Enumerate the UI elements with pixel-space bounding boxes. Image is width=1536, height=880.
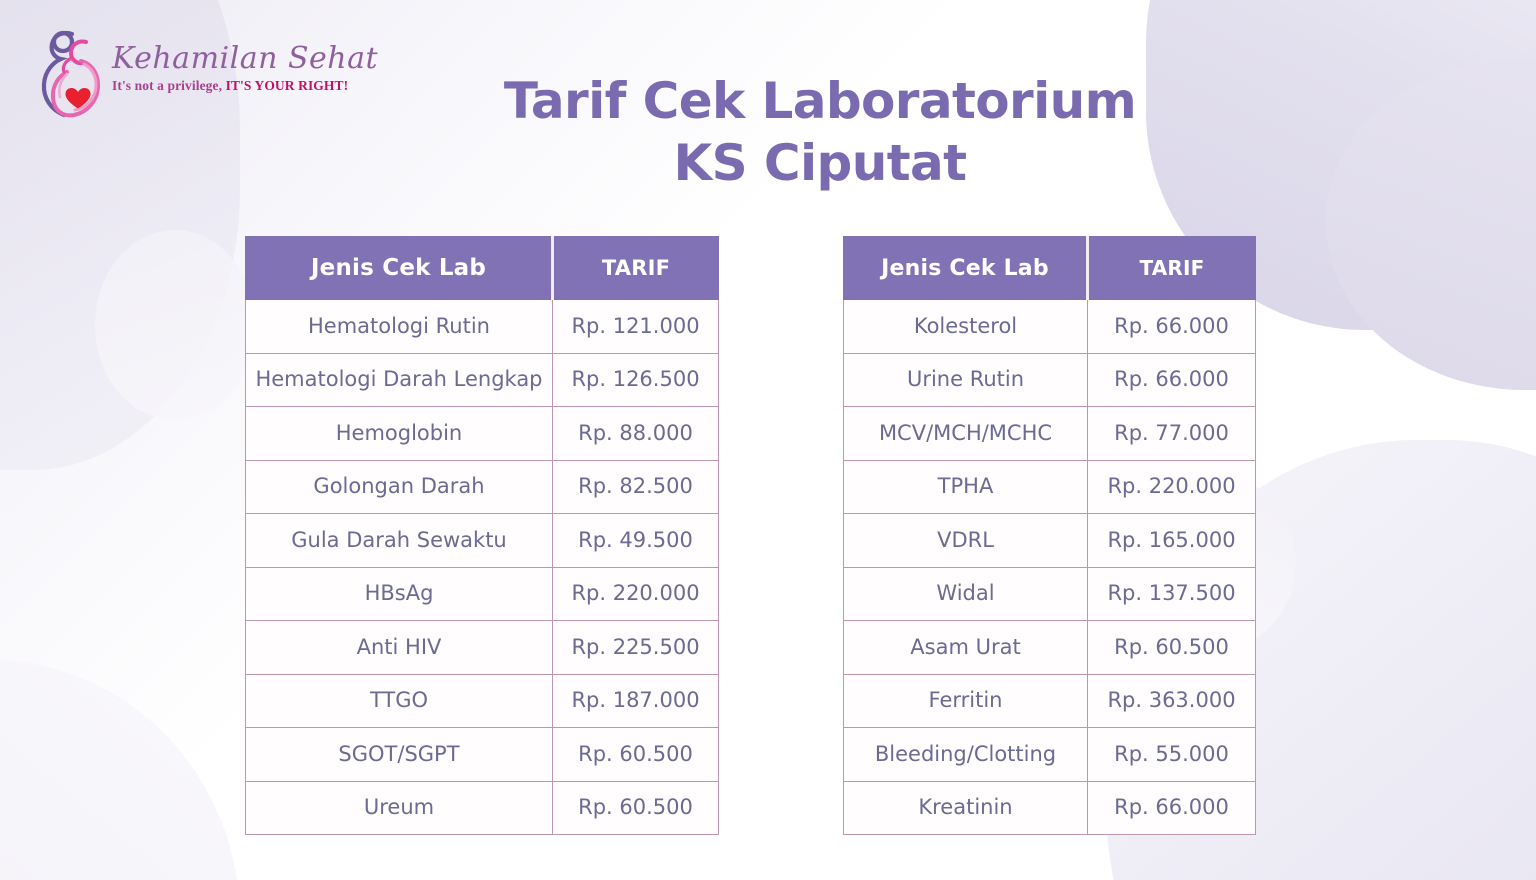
table-header-row: Jenis Cek Lab TARIF [246,237,719,300]
cell-tariff: Rp. 363.000 [1088,674,1256,728]
lab-price-table-right: Jenis Cek Lab TARIF KolesterolRp. 66.000… [843,236,1256,835]
table-row: UreumRp. 60.500 [246,781,719,835]
cell-tariff: Rp. 88.000 [553,407,719,461]
table-row: Hematologi RutinRp. 121.000 [246,300,719,354]
table-row: TTGORp. 187.000 [246,674,719,728]
page-title-line-1: Tarif Cek Laboratorium [380,70,1260,132]
cell-tariff: Rp. 82.500 [553,460,719,514]
cell-test-name: Kreatinin [844,781,1088,835]
cell-test-name: VDRL [844,514,1088,568]
cell-tariff: Rp. 49.500 [553,514,719,568]
table-row: WidalRp. 137.500 [844,567,1256,621]
table-row: HBsAgRp. 220.000 [246,567,719,621]
table-row: Urine RutinRp. 66.000 [844,353,1256,407]
cell-tariff: Rp. 60.500 [553,728,719,782]
cell-test-name: Hemoglobin [246,407,553,461]
cell-test-name: Asam Urat [844,621,1088,675]
table-row: MCV/MCH/MCHCRp. 77.000 [844,407,1256,461]
table-row: Bleeding/ClottingRp. 55.000 [844,728,1256,782]
page-title: Tarif Cek Laboratorium KS Ciputat [380,70,1260,194]
table-row: FerritinRp. 363.000 [844,674,1256,728]
cell-test-name: Urine Rutin [844,353,1088,407]
cell-tariff: Rp. 137.500 [1088,567,1256,621]
cell-test-name: SGOT/SGPT [246,728,553,782]
cell-tariff: Rp. 220.000 [553,567,719,621]
cell-tariff: Rp. 225.500 [553,621,719,675]
column-header-test-name: Jenis Cek Lab [246,237,553,300]
cell-test-name: Ferritin [844,674,1088,728]
cell-tariff: Rp. 66.000 [1088,300,1256,354]
cell-test-name: Anti HIV [246,621,553,675]
table-header-row: Jenis Cek Lab TARIF [844,237,1256,300]
cell-tariff: Rp. 187.000 [553,674,719,728]
column-header-tariff: TARIF [553,237,719,300]
lab-price-table-left: Jenis Cek Lab TARIF Hematologi RutinRp. … [245,236,719,835]
cell-tariff: Rp. 66.000 [1088,781,1256,835]
page-title-line-2: KS Ciputat [380,132,1260,194]
brand-tagline-part1: It's not a privilege, [112,78,222,93]
cell-test-name: MCV/MCH/MCHC [844,407,1088,461]
cell-tariff: Rp. 77.000 [1088,407,1256,461]
cell-tariff: Rp. 60.500 [553,781,719,835]
table-row: KreatininRp. 66.000 [844,781,1256,835]
cell-test-name: TPHA [844,460,1088,514]
brand-name: Kehamilan Sehat [112,44,332,74]
poster-content: Kehamilan Sehat It's not a privilege, IT… [0,0,1536,880]
table-row: Anti HIVRp. 225.500 [246,621,719,675]
table-row: SGOT/SGPTRp. 60.500 [246,728,719,782]
cell-tariff: Rp. 220.000 [1088,460,1256,514]
cell-test-name: Golongan Darah [246,460,553,514]
table-row: Golongan DarahRp. 82.500 [246,460,719,514]
brand-logo: Kehamilan Sehat It's not a privilege, IT… [28,24,328,124]
table-row: Hematologi Darah LengkapRp. 126.500 [246,353,719,407]
cell-tariff: Rp. 165.000 [1088,514,1256,568]
cell-test-name: Gula Darah Sewaktu [246,514,553,568]
cell-tariff: Rp. 66.000 [1088,353,1256,407]
brand-tagline: It's not a privilege, IT'S YOUR RIGHT! [112,78,332,94]
cell-test-name: Widal [844,567,1088,621]
cell-tariff: Rp. 121.000 [553,300,719,354]
cell-tariff: Rp. 126.500 [553,353,719,407]
table-row: Gula Darah SewaktuRp. 49.500 [246,514,719,568]
table-row: Asam UratRp. 60.500 [844,621,1256,675]
table-row: TPHARp. 220.000 [844,460,1256,514]
cell-test-name: TTGO [246,674,553,728]
column-header-test-name: Jenis Cek Lab [844,237,1088,300]
cell-tariff: Rp. 55.000 [1088,728,1256,782]
pregnant-mother-embrace-icon [32,28,114,120]
table-body-left: Hematologi RutinRp. 121.000Hematologi Da… [246,300,719,835]
table-row: KolesterolRp. 66.000 [844,300,1256,354]
cell-test-name: Bleeding/Clotting [844,728,1088,782]
cell-test-name: HBsAg [246,567,553,621]
table-row: VDRLRp. 165.000 [844,514,1256,568]
brand-tagline-part2: IT'S YOUR RIGHT! [226,78,349,93]
cell-test-name: Hematologi Rutin [246,300,553,354]
table-body-right: KolesterolRp. 66.000Urine RutinRp. 66.00… [844,300,1256,835]
cell-tariff: Rp. 60.500 [1088,621,1256,675]
cell-test-name: Hematologi Darah Lengkap [246,353,553,407]
cell-test-name: Ureum [246,781,553,835]
cell-test-name: Kolesterol [844,300,1088,354]
brand-wordmark: Kehamilan Sehat It's not a privilege, IT… [112,44,332,94]
column-header-tariff: TARIF [1088,237,1256,300]
table-row: HemoglobinRp. 88.000 [246,407,719,461]
